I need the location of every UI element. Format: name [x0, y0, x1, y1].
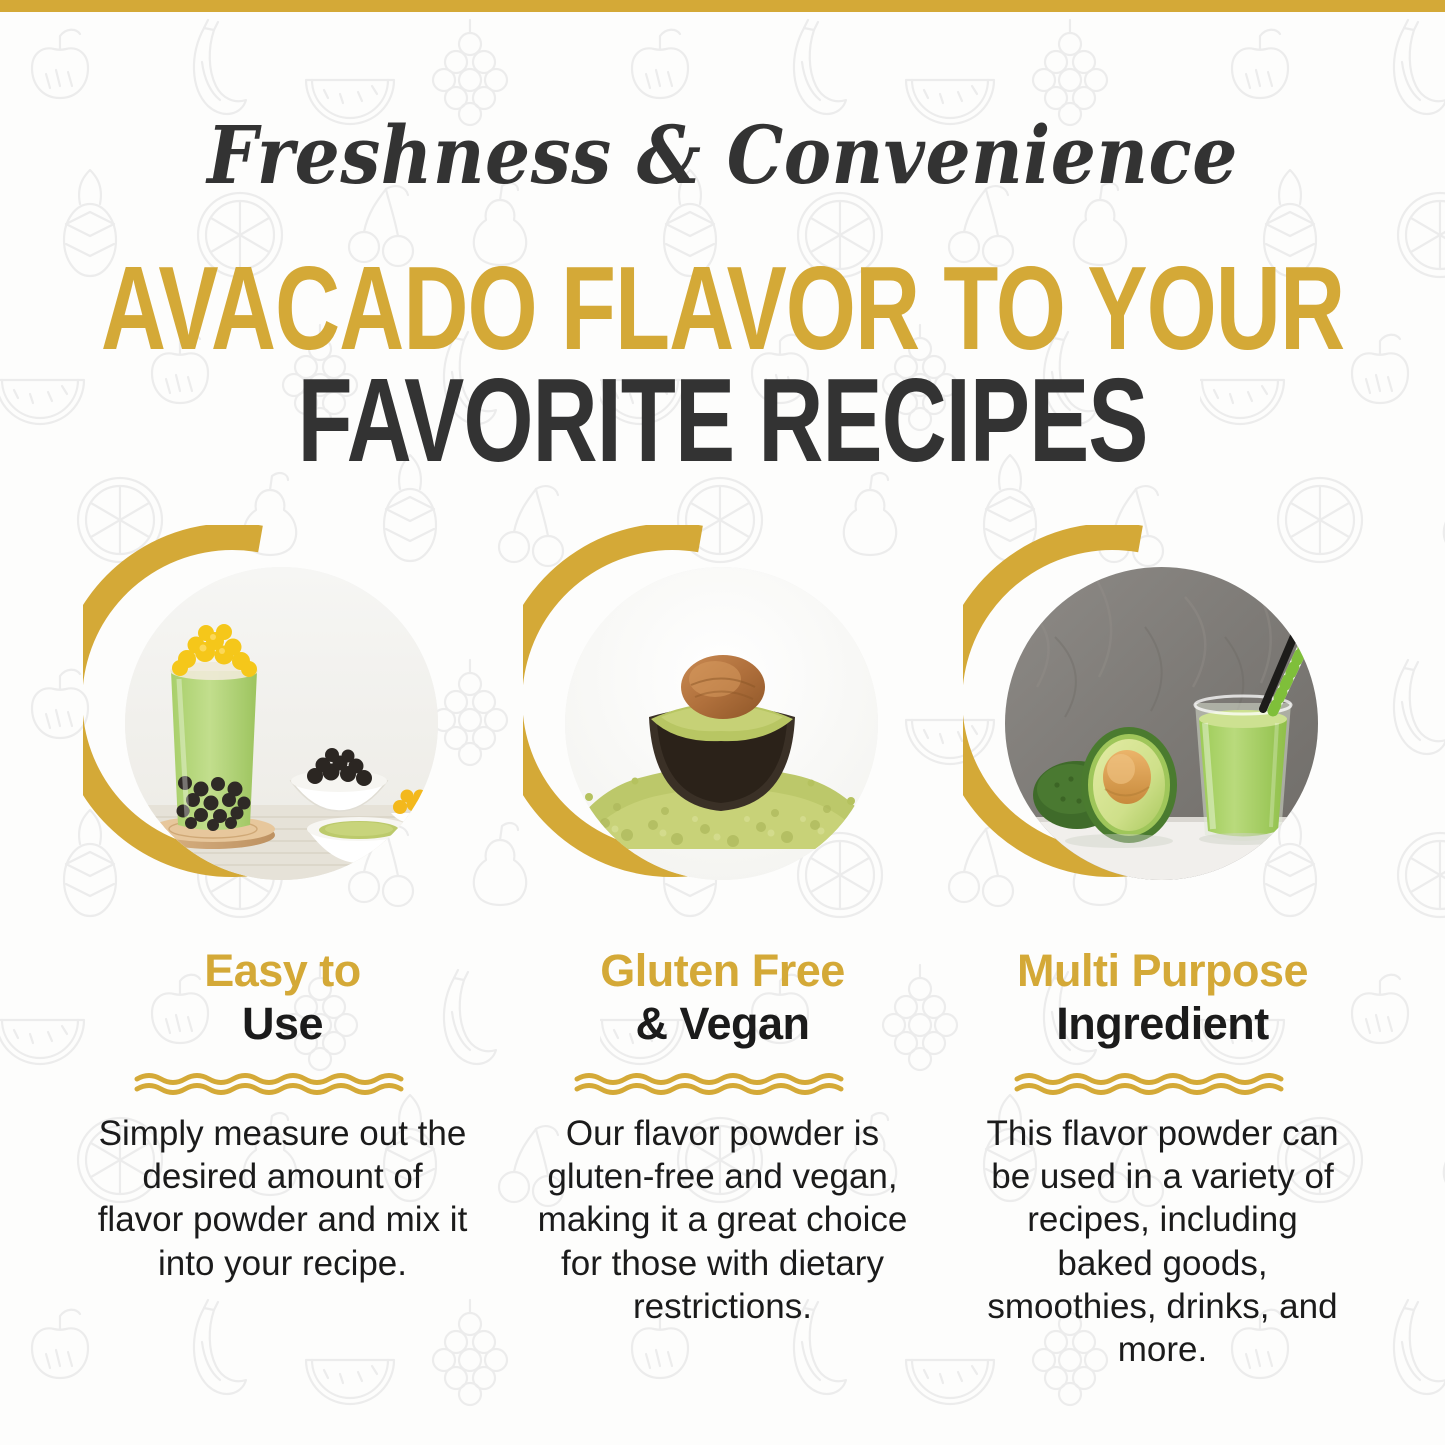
- infographic-page: Freshness & Convenience AVACADO FLAVOR T…: [0, 0, 1445, 1445]
- card-media: [83, 525, 483, 925]
- card-heading: Easy to Use: [204, 947, 361, 1048]
- card-heading-gold: Multi Purpose: [1017, 947, 1308, 994]
- feature-card-row: Easy to Use Simply measure out the desir…: [0, 525, 1445, 1372]
- card-body-text: This flavor powder can be used in a vari…: [978, 1112, 1348, 1372]
- card-media: [963, 525, 1363, 925]
- wavy-divider: [1013, 1070, 1313, 1096]
- avocado-powder-photo: [565, 567, 878, 880]
- card-heading-gold: Easy to: [204, 947, 361, 994]
- main-title-line-2: FAVORITE RECIPES: [22, 352, 1424, 489]
- card-heading-dark: & Vegan: [600, 1000, 845, 1047]
- script-heading: Freshness & Convenience: [0, 108, 1445, 202]
- card-body-text: Our flavor powder is gluten-free and veg…: [538, 1112, 908, 1329]
- bubble-tea-photo: [125, 567, 438, 880]
- wavy-divider: [573, 1070, 873, 1096]
- card-heading-dark: Ingredient: [1017, 1000, 1308, 1047]
- feature-card-easy-to-use: Easy to Use Simply measure out the desir…: [63, 525, 503, 1372]
- card-heading: Gluten Free & Vegan: [600, 947, 845, 1048]
- top-accent-bar: [0, 0, 1445, 12]
- card-heading-dark: Use: [204, 1000, 361, 1047]
- card-heading: Multi Purpose Ingredient: [1017, 947, 1308, 1048]
- wavy-divider: [133, 1070, 433, 1096]
- card-body-text: Simply measure out the desired amount of…: [98, 1112, 468, 1286]
- feature-card-multi-purpose-ingredient: Multi Purpose Ingredient This flavor pow…: [943, 525, 1383, 1372]
- feature-card-gluten-free-vegan: Gluten Free & Vegan Our flavor powder is…: [503, 525, 943, 1372]
- avocado-smoothie-photo: [1005, 567, 1318, 880]
- card-media: [523, 525, 923, 925]
- card-heading-gold: Gluten Free: [600, 947, 845, 994]
